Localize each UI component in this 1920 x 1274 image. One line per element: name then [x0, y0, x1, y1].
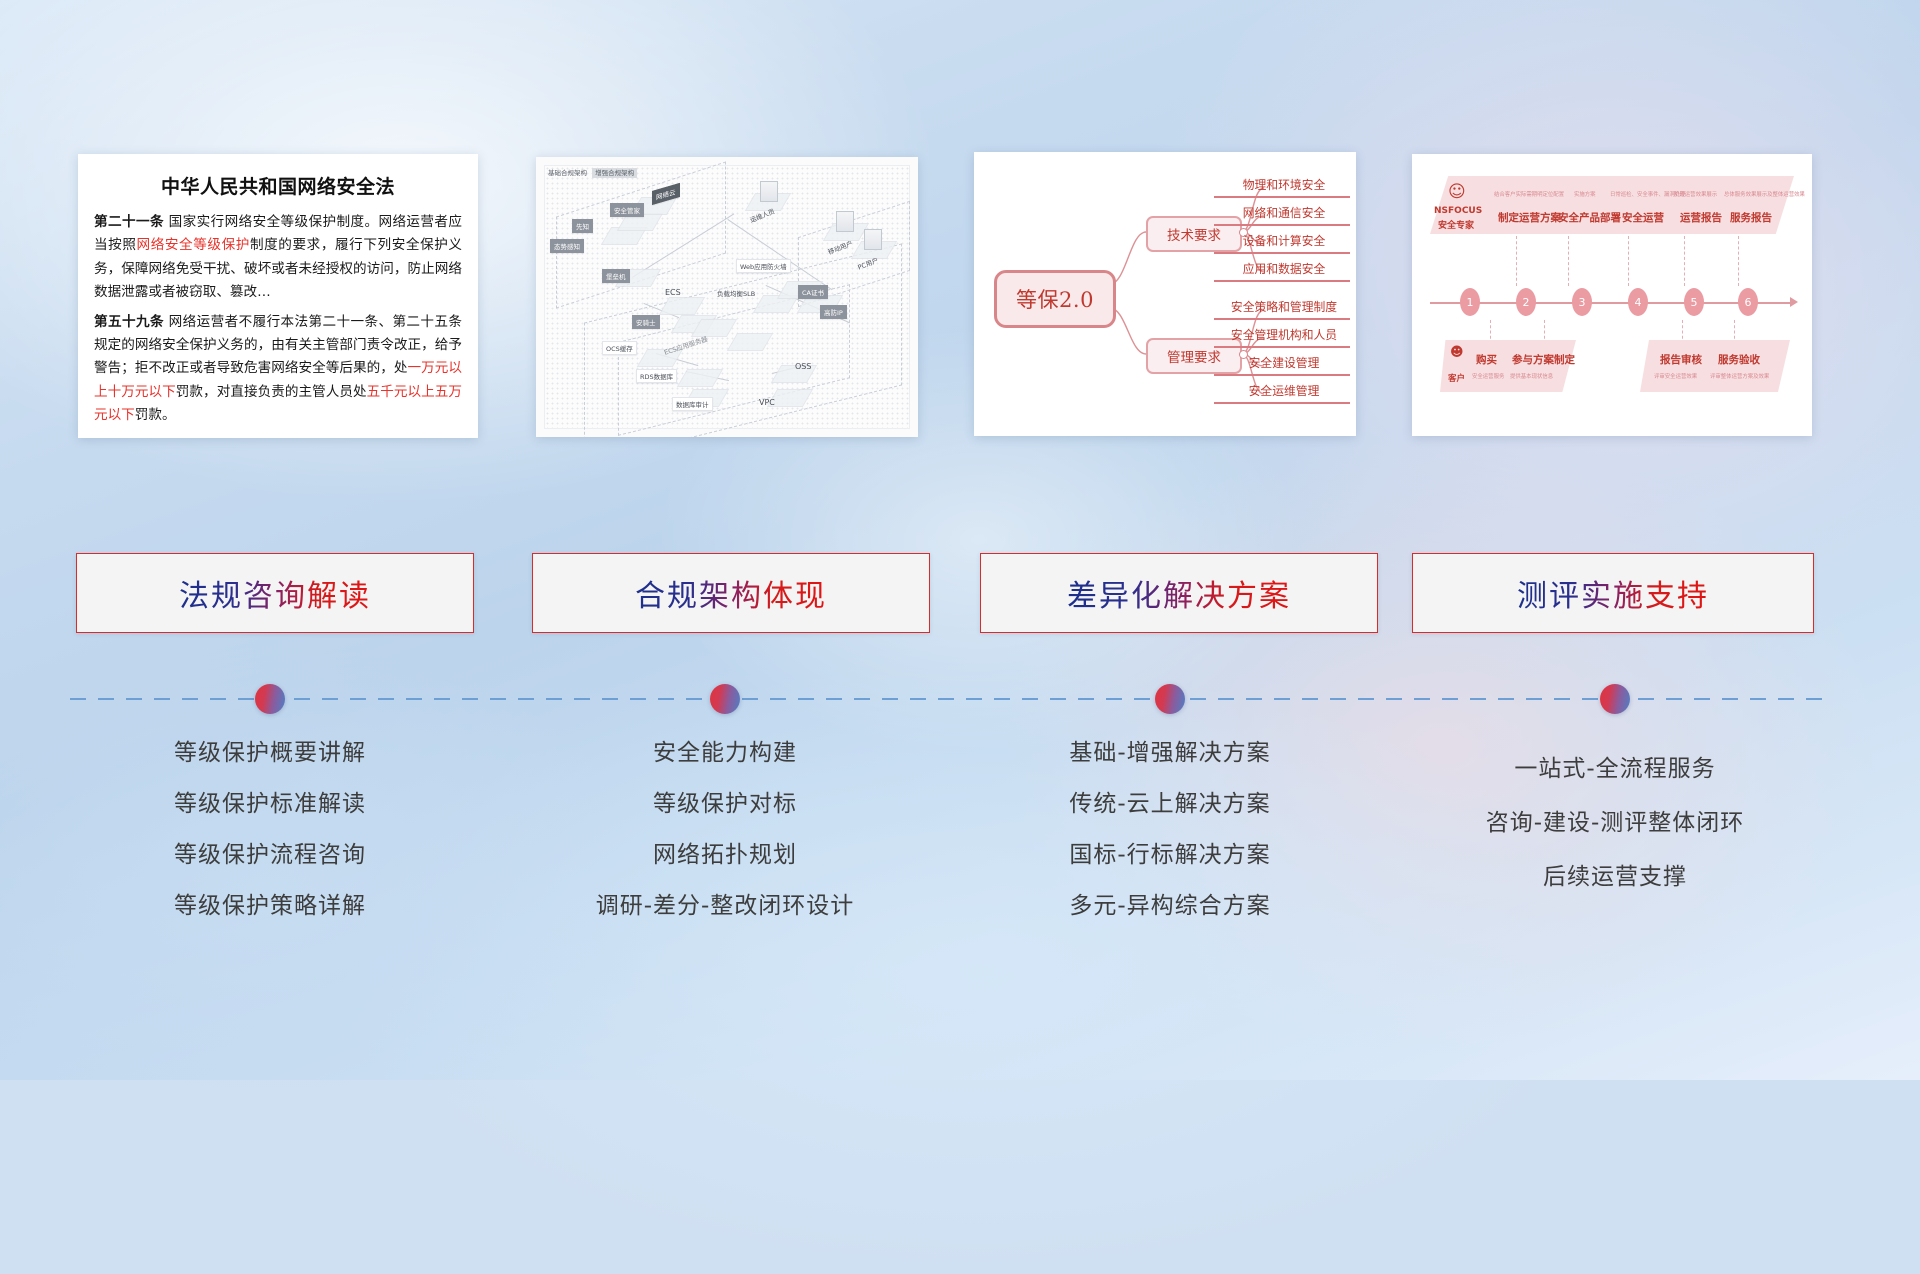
bottom-step-title: 报告审核	[1660, 352, 1702, 367]
law-card-title: 中华人民共和国网络安全法	[94, 172, 462, 199]
list-item: 传统-云上解决方案	[955, 793, 1385, 816]
architecture-label: OSS	[792, 361, 814, 372]
mindmap-leaf[interactable]: 物理和环境安全	[1214, 174, 1350, 198]
arch-header-enhanced: 增强合规架构	[592, 168, 637, 178]
section-list-2: 安全能力构建 等级保护对标 网络拓扑规划 调研-差分-整改闭环设计	[510, 742, 940, 946]
customer-label: 客户	[1448, 372, 1465, 384]
section-title-box-3[interactable]: 差异化解决方案	[980, 553, 1378, 633]
card-nsfocus-process: ☺ NSFOCUS 安全专家 结合客户实际需期明定位配置 制定运营方案 实施方案…	[1412, 154, 1812, 436]
architecture-node-icon	[682, 369, 718, 387]
step-title: 安全产品部署	[1558, 210, 1621, 225]
mindmap: 等保2.0 技术要求 物理和环境安全 网络和通信安全 设备和计算安全 应用和数据…	[974, 152, 1356, 436]
bottom-step-subtitle: 评审安全运营效果	[1654, 372, 1697, 380]
server-icon	[760, 181, 778, 202]
list-item: 调研-差分-整改闭环设计	[510, 895, 940, 918]
list-item: 等级保护流程咨询	[55, 844, 485, 867]
arch-header-basic: 基础合规架构	[548, 169, 587, 177]
article-21-label: 第二十一条	[94, 214, 164, 230]
step-connector	[1516, 236, 1517, 286]
architecture-label: CA证书	[798, 285, 828, 299]
architecture-label: 高防IP	[820, 305, 847, 319]
list-item: 等级保护对标	[510, 793, 940, 816]
step-subtitle: 总体服务效果展示及整体运营效果	[1724, 190, 1805, 198]
step-connector	[1568, 236, 1569, 286]
bottom-step-subtitle: 评审整体运营方案及效果	[1710, 372, 1769, 380]
article-59-text-c: 罚款。	[135, 407, 176, 423]
mindmap-leaf[interactable]: 设备和计算安全	[1214, 230, 1350, 254]
list-item: 后续运营支撑	[1400, 866, 1830, 889]
architecture-header: 基础合规架构 增强合规架构	[548, 167, 637, 177]
list-item: 网络拓扑规划	[510, 844, 940, 867]
server-icon	[864, 229, 882, 250]
nsfocus-brand-line-1: NSFOCUS	[1434, 206, 1482, 216]
step-number-6: 6	[1738, 288, 1758, 316]
nsfocus-timeline: ☺ NSFOCUS 安全专家 结合客户实际需期明定位配置 制定运营方案 实施方案…	[1412, 154, 1812, 436]
step-title: 运营报告	[1680, 210, 1722, 225]
expert-person-icon: ☺	[1448, 184, 1466, 201]
section-title-label: 法规咨询解读	[179, 571, 371, 615]
list-item: 等级保护标准解读	[55, 793, 485, 816]
mindmap-leaf[interactable]: 安全建设管理	[1214, 352, 1350, 376]
list-item: 基础-增强解决方案	[955, 742, 1385, 765]
architecture-label: RDS数据库	[636, 369, 677, 383]
architecture-label: 安全管家	[610, 203, 644, 217]
timeline-dot-4[interactable]	[1600, 684, 1630, 714]
architecture-label: 先知	[572, 219, 593, 233]
architecture-label: 堡垒机	[602, 269, 630, 283]
mindmap-leaf[interactable]: 安全运维管理	[1214, 380, 1350, 404]
server-icon	[836, 211, 854, 232]
bottom-step-subtitle: 安全运营服务	[1472, 372, 1504, 380]
mindmap-leaf[interactable]: 应用和数据安全	[1214, 258, 1350, 282]
architecture-node-icon	[664, 297, 700, 315]
section-title-label: 合规架构体现	[635, 571, 827, 615]
section-list-3: 基础-增强解决方案 传统-云上解决方案 国标-行标解决方案 多元-异构综合方案	[955, 742, 1385, 946]
step-subtitle: 结合客户实际需期明定位配置	[1494, 190, 1564, 198]
section-title-box-4[interactable]: 测评实施支持	[1412, 553, 1814, 633]
step-connector	[1684, 236, 1685, 286]
list-item: 国标-行标解决方案	[955, 844, 1385, 867]
step-title: 制定运营方案	[1498, 210, 1561, 225]
step-number: 4	[1628, 288, 1648, 316]
list-item: 等级保护概要讲解	[55, 742, 485, 765]
law-card-body: 中华人民共和国网络安全法 第二十一条 国家实行网络安全等级保护制度。网络运营者应…	[78, 154, 478, 438]
step-subtitle: 阶段运营效果展示	[1674, 190, 1717, 198]
law-article-21: 第二十一条 国家实行网络安全等级保护制度。网络运营者应当按照网络安全等级保护制度…	[94, 211, 462, 305]
nsfocus-expert-band	[1430, 176, 1794, 234]
card-cybersecurity-law: 中华人民共和国网络安全法 第二十一条 国家实行网络安全等级保护制度。网络运营者应…	[78, 154, 478, 438]
timeline-dashed-line	[70, 698, 1830, 700]
step-title: 安全运营	[1622, 210, 1664, 225]
bottom-step-title: 服务验收	[1718, 352, 1760, 367]
slide-stage: 中华人民共和国网络安全法 第二十一条 国家实行网络安全等级保护制度。网络运营者应…	[0, 0, 1920, 1080]
list-item: 一站式-全流程服务	[1400, 758, 1830, 781]
bottom-step-title: 参与方案制定	[1512, 352, 1575, 367]
section-list-1: 等级保护概要讲解 等级保护标准解读 等级保护流程咨询 等级保护策略详解	[55, 742, 485, 946]
architecture-label: 安骑士	[632, 315, 660, 329]
article-59-label: 第五十九条	[94, 314, 164, 330]
architecture-label: VPC	[756, 397, 778, 408]
architecture-label: 负载均衡SLB	[714, 287, 758, 299]
timeline-dot-1[interactable]	[255, 684, 285, 714]
step-number: 1	[1460, 288, 1480, 316]
law-article-59: 第五十九条 网络运营者不履行本法第二十一条、第二十五条规定的网络安全保护义务的，…	[94, 311, 462, 428]
card-dengbao-mindmap: 等保2.0 技术要求 物理和环境安全 网络和通信安全 设备和计算安全 应用和数据…	[974, 152, 1356, 436]
mindmap-leaf[interactable]: 安全管理机构和人员	[1214, 324, 1350, 348]
nsfocus-brand-line-2: 安全专家	[1438, 218, 1474, 231]
list-item: 等级保护策略详解	[55, 895, 485, 918]
list-item: 安全能力构建	[510, 742, 940, 765]
bottom-step-title: 购买	[1476, 352, 1497, 367]
step-subtitle: 实施方案	[1574, 190, 1596, 198]
timeline-dot-3[interactable]	[1155, 684, 1185, 714]
architecture-label: 态势感知	[550, 239, 584, 253]
architecture-label: OCS缓存	[602, 341, 637, 355]
list-item: 多元-异构综合方案	[955, 895, 1385, 918]
mindmap-root-node[interactable]: 等保2.0	[994, 270, 1116, 328]
architecture-node-icon	[732, 333, 768, 351]
step-number: 5	[1684, 288, 1704, 316]
section-list-4: 一站式-全流程服务 咨询-建设-测评整体闭环 后续运营支撑	[1400, 758, 1830, 920]
mindmap-leaf[interactable]: 网络和通信安全	[1214, 202, 1350, 226]
timeline-dot-2[interactable]	[710, 684, 740, 714]
section-title-label: 差异化解决方案	[1067, 571, 1291, 615]
step-connector	[1628, 236, 1629, 286]
section-title-box-1[interactable]: 法规咨询解读	[76, 553, 474, 633]
architecture-diagram: 基础合规架构 增强合规架构	[536, 157, 918, 437]
section-title-label: 测评实施支持	[1517, 571, 1709, 615]
article-59-text-b: 罚款，对直接负责的主管人员处	[176, 384, 367, 400]
mindmap-leaf[interactable]: 安全策略和管理制度	[1214, 296, 1350, 320]
step-number: 3	[1572, 288, 1592, 316]
step-number: 2	[1516, 288, 1536, 316]
step-title: 服务报告	[1730, 210, 1772, 225]
architecture-label: ECS	[662, 287, 684, 298]
architecture-label: Web应用防火墙	[736, 259, 791, 273]
article-21-highlight: 网络安全等级保护	[137, 237, 250, 253]
architecture-label: 数据库审计	[672, 397, 713, 411]
step-connector	[1738, 236, 1739, 286]
section-title-box-2[interactable]: 合规架构体现	[532, 553, 930, 633]
bottom-step-subtitle: 提供基本现状信息	[1510, 372, 1553, 380]
nsfocus-axis-arrow	[1790, 297, 1798, 307]
customer-person-icon: ☻	[1450, 346, 1464, 359]
card-compliance-architecture: 基础合规架构 增强合规架构	[536, 157, 918, 437]
list-item: 咨询-建设-测评整体闭环	[1400, 812, 1830, 835]
